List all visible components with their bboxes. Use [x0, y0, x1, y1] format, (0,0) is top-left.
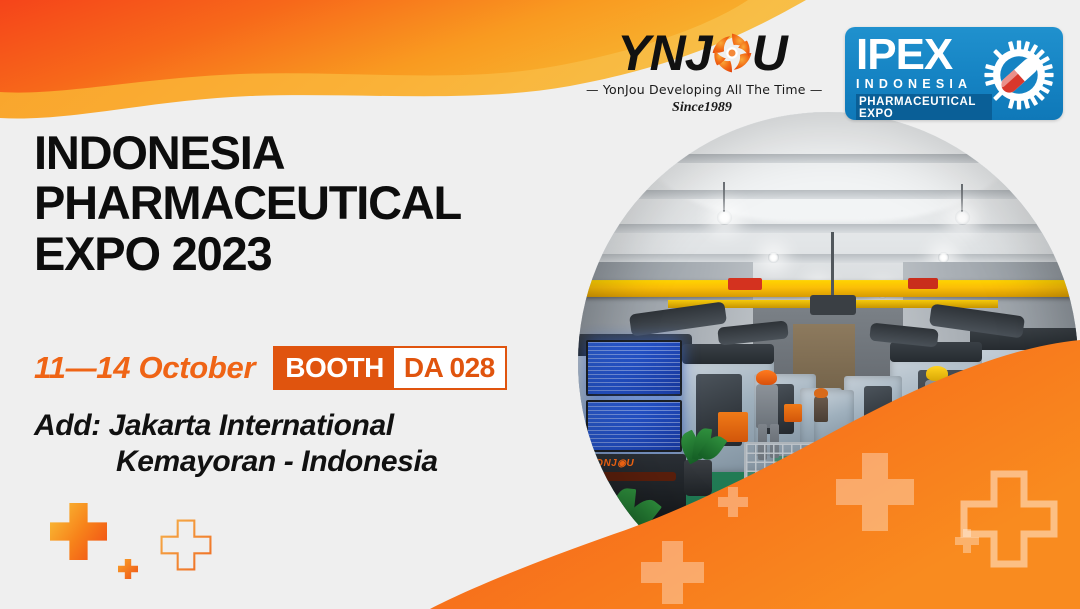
- yonjou-wordmark: YNJ: [586, 26, 818, 80]
- date-and-booth-row: 11—14 October BOOTH DA 028: [34, 346, 507, 390]
- booth-badge: BOOTH DA 028: [273, 346, 507, 390]
- headline-line-2: PHARMACEUTICAL: [34, 178, 461, 228]
- medical-cross-filled-icon: [50, 503, 107, 560]
- monitor-brand-label: YONJ◉U: [588, 458, 634, 469]
- page-title: INDONESIA PHARMACEUTICAL EXPO 2023: [34, 128, 461, 279]
- worker-helmet-yellow: [926, 366, 948, 381]
- address-line-2: Kemayoran - Indonesia: [116, 444, 438, 480]
- yonjou-since-text: Since1989: [586, 100, 818, 116]
- booth-label: BOOTH: [275, 348, 394, 388]
- factory-floor-photo: YONJ◉U: [578, 112, 1078, 609]
- yonjou-tagline: — YonJou Developing All The Time —: [586, 82, 818, 97]
- venue-address: Add: Jakarta International Kemayoran - I…: [34, 408, 438, 480]
- medical-cross-small-icon: [118, 559, 138, 579]
- ipex-main-text: IPEX: [856, 35, 981, 75]
- aperture-icon: [710, 31, 754, 75]
- medical-cross-outline-icon: [160, 519, 212, 571]
- expo-promo-banner: YONJ◉U: [0, 0, 1080, 609]
- yonjou-word-part2: NJ: [650, 28, 712, 78]
- ipex-subtitle-bar: PHARMACEUTICAL EXPO: [856, 94, 992, 120]
- yonjou-word-part1: Y: [617, 28, 649, 78]
- booth-number: DA 028: [394, 348, 505, 388]
- event-date: 11—14 October: [34, 350, 255, 386]
- ipex-text-column: IPEX INDONESIA PHARMACEUTICAL EXPO: [856, 35, 981, 120]
- headline-line-1: INDONESIA: [34, 128, 461, 178]
- ipex-subtitle: INDONESIA: [856, 77, 981, 91]
- gear-capsule-icon: [983, 39, 1055, 111]
- headline-line-3: EXPO 2023: [34, 229, 461, 279]
- ipex-logo: IPEX INDONESIA PHARMACEUTICAL EXPO: [845, 27, 1063, 120]
- yonjou-logo: YNJ: [586, 26, 818, 126]
- yonjou-word-part3: U: [752, 28, 787, 78]
- worker-helmet-orange: [756, 370, 777, 385]
- address-line-1: Add: Jakarta International: [34, 408, 438, 444]
